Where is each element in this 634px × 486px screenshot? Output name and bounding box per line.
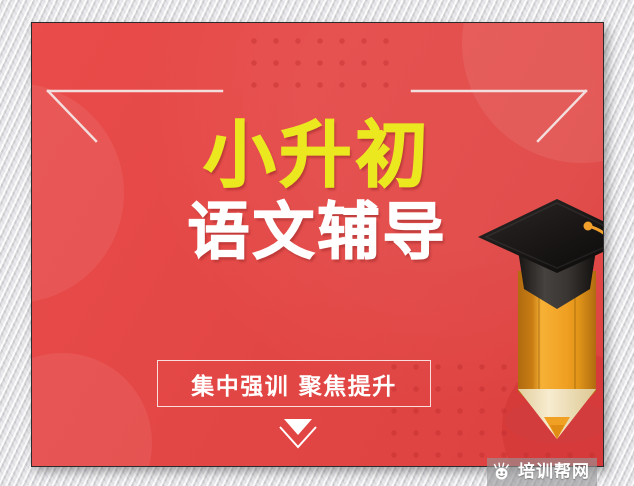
dot-grid-top	[240, 27, 390, 97]
down-arrow-icon	[270, 413, 326, 455]
slogan-text: 集中强训 聚焦提升	[191, 367, 397, 401]
poster: 小升初 语文辅导 集中强训 聚焦提升	[31, 22, 604, 467]
decor-circle-left-lower	[31, 353, 152, 467]
watermark: 培训帮网	[487, 458, 597, 486]
headline-line-1: 小升初	[32, 119, 603, 191]
slogan-box: 集中强训 聚焦提升	[157, 360, 431, 407]
sun-face-logo-icon	[492, 462, 512, 482]
image-canvas: 小升初 语文辅导 集中强训 聚焦提升	[0, 0, 634, 486]
graduation-cap-pencil-icon	[470, 193, 604, 448]
watermark-text: 培训帮网	[518, 464, 590, 481]
